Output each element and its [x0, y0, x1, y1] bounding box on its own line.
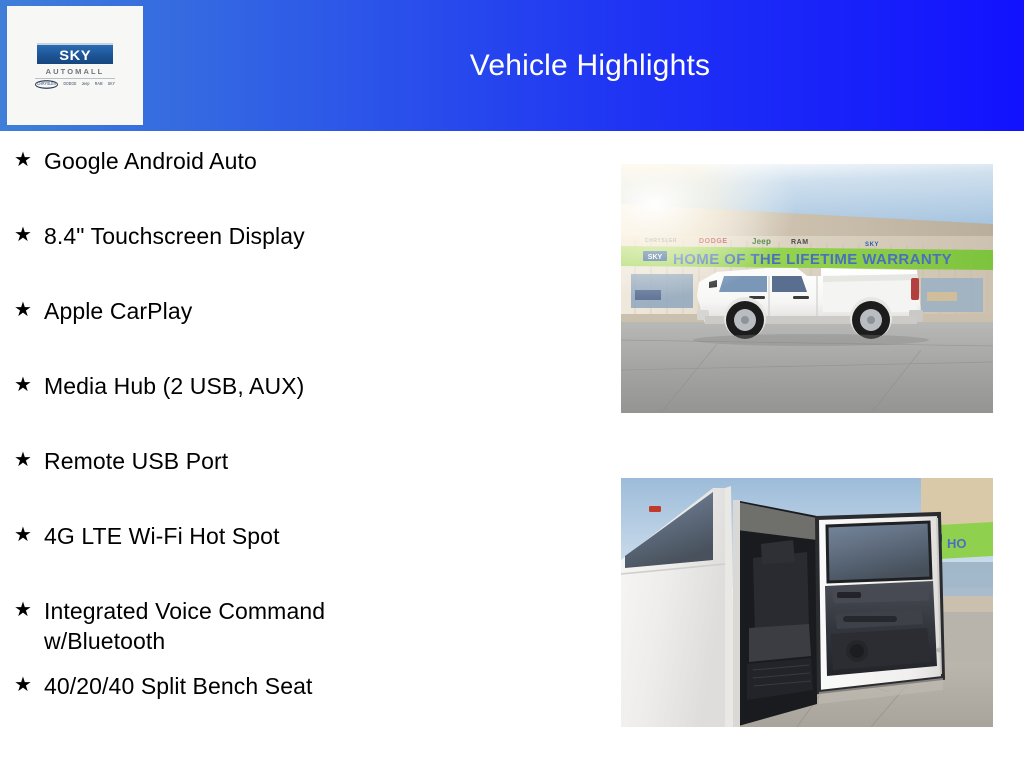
- list-item: ★ 8.4" Touchscreen Display: [0, 221, 600, 296]
- brand-mark-ram: RAM: [95, 81, 103, 87]
- page-header: Vehicle Highlights: [0, 0, 1024, 131]
- vehicle-exterior-illustration: CHRYSLER DODGE Jeep RAM SKY SKY HOME OF …: [621, 164, 993, 413]
- list-item-label: Remote USB Port: [44, 446, 228, 476]
- list-item-label: Google Android Auto: [44, 146, 257, 176]
- brand-mark-dodge: DODGE: [64, 81, 77, 87]
- dealer-logo: SKY AUTOMALL CHRYSLER DODGE Jeep RAM SKY: [33, 43, 117, 88]
- sky-logo-badge: SKY: [37, 43, 113, 64]
- star-icon: ★: [14, 671, 44, 699]
- vehicle-exterior-photo[interactable]: CHRYSLER DODGE Jeep RAM SKY SKY HOME OF …: [621, 164, 993, 413]
- star-icon: ★: [14, 221, 44, 249]
- list-item-label: Media Hub (2 USB, AUX): [44, 371, 304, 401]
- svg-text:HO: HO: [947, 536, 967, 551]
- vehicle-interior-illustration: HO: [621, 478, 993, 727]
- star-icon: ★: [14, 521, 44, 549]
- list-item: ★ 40/20/40 Split Bench Seat: [0, 671, 600, 746]
- brand-mark-jeep: Jeep: [82, 81, 90, 87]
- list-item: ★ 4G LTE Wi-Fi Hot Spot: [0, 521, 600, 596]
- list-item: ★ Google Android Auto: [0, 146, 600, 221]
- list-item-label: Apple CarPlay: [44, 296, 192, 326]
- list-item: ★ Media Hub (2 USB, AUX): [0, 371, 600, 446]
- dealer-logo-card[interactable]: SKY AUTOMALL CHRYSLER DODGE Jeep RAM SKY: [7, 6, 143, 125]
- automall-subtitle: AUTOMALL: [46, 67, 105, 76]
- list-item: ★ Apple CarPlay: [0, 296, 600, 371]
- brand-logo-row: CHRYSLER DODGE Jeep RAM SKY: [35, 81, 115, 88]
- vehicle-interior-photo[interactable]: HO: [621, 478, 993, 727]
- list-item-label: 40/20/40 Split Bench Seat: [44, 671, 312, 701]
- brand-mark-sky: SKY: [108, 81, 115, 87]
- sky-logo-text: SKY: [59, 47, 91, 63]
- list-item: ★ Integrated Voice Command w/Bluetooth: [0, 596, 600, 671]
- page-title: Vehicle Highlights: [170, 0, 1010, 131]
- list-item-label: 4G LTE Wi-Fi Hot Spot: [44, 521, 280, 551]
- logo-divider: [35, 78, 115, 79]
- star-icon: ★: [14, 296, 44, 324]
- brand-mark-chrysler: CHRYSLER: [35, 80, 58, 89]
- star-icon: ★: [14, 371, 44, 399]
- vehicle-highlights-list: ★ Google Android Auto ★ 8.4" Touchscreen…: [0, 146, 600, 746]
- star-icon: ★: [14, 146, 44, 174]
- list-item-label: 8.4" Touchscreen Display: [44, 221, 305, 251]
- star-icon: ★: [14, 596, 44, 624]
- star-icon: ★: [14, 446, 44, 474]
- list-item: ★ Remote USB Port: [0, 446, 600, 521]
- list-item-label: Integrated Voice Command w/Bluetooth: [44, 596, 325, 656]
